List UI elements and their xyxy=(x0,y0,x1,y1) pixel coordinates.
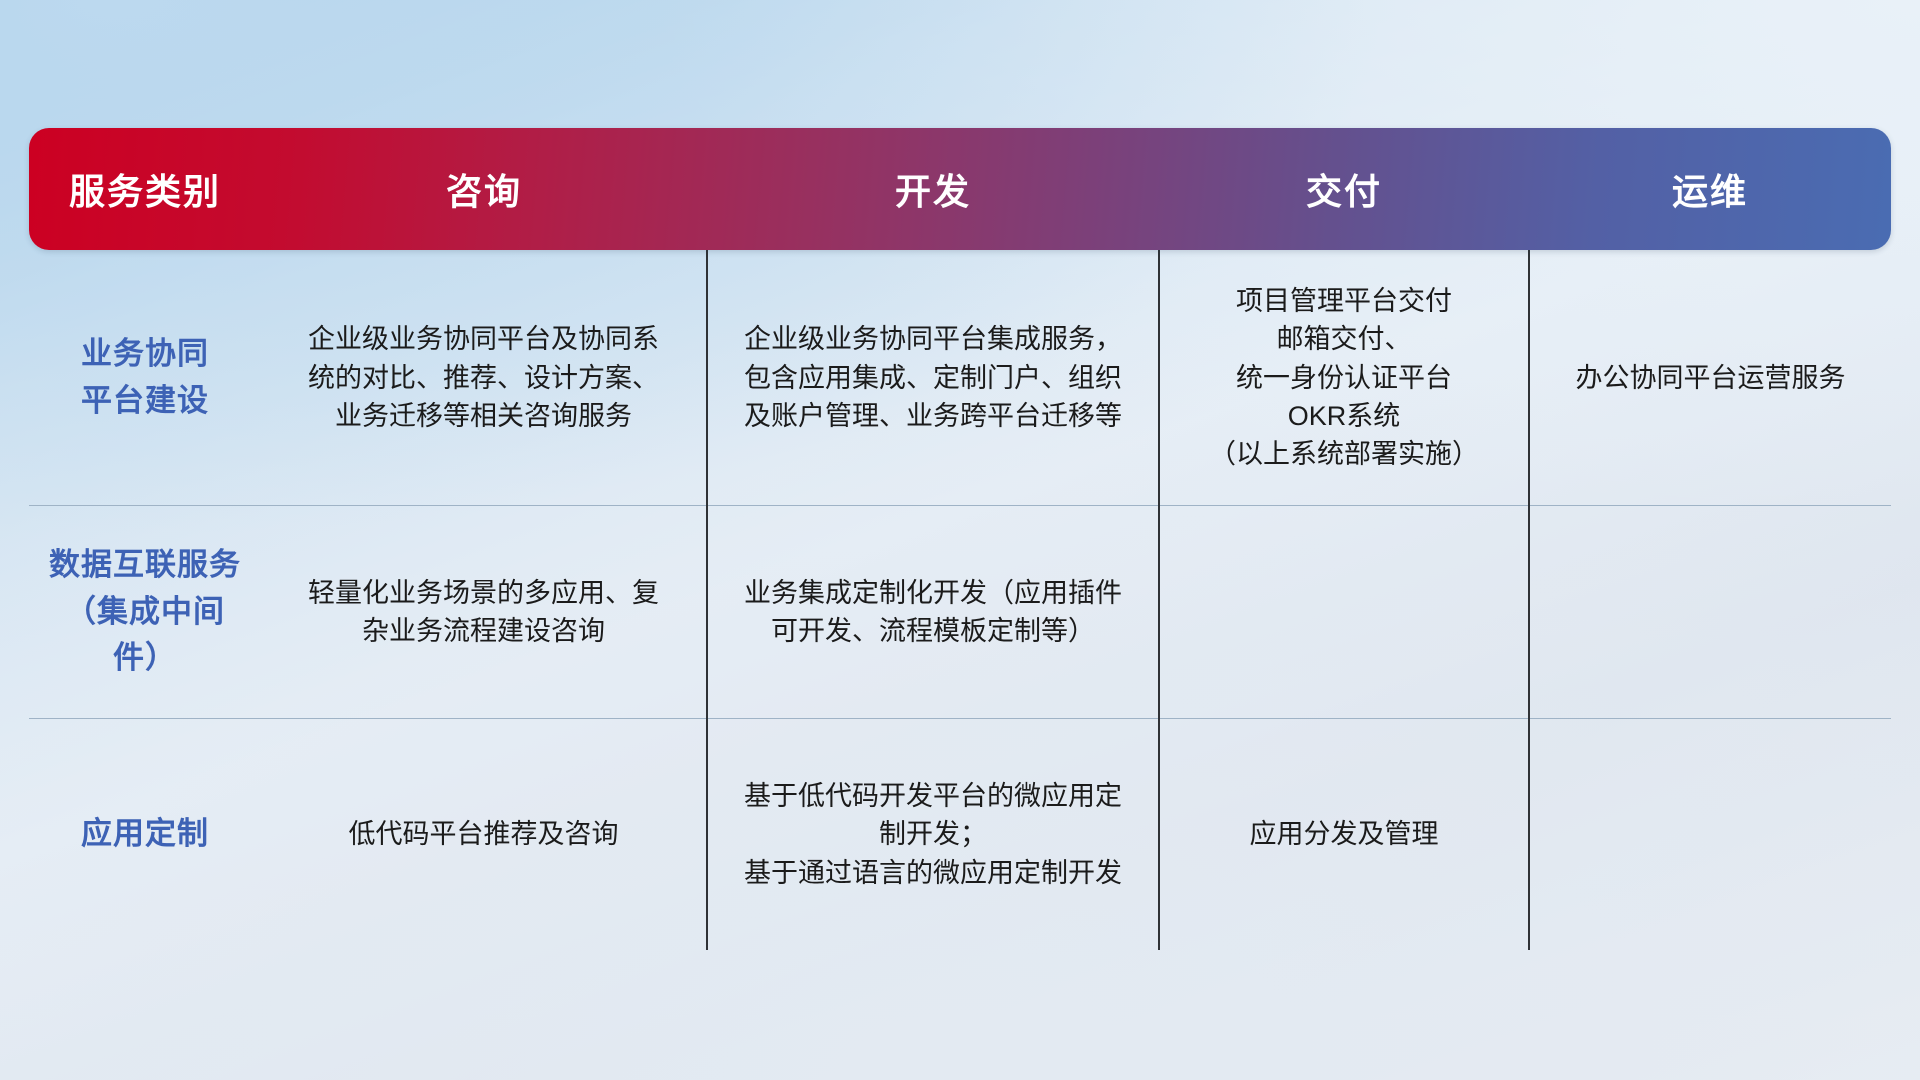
text-line: 基于低代码开发平台的微应用定 xyxy=(724,777,1142,815)
category-line: 数据互联服务 xyxy=(45,542,245,589)
cell-operations-2 xyxy=(1529,506,1891,718)
cell-category-2: 数据互联服务 （集成中间件） xyxy=(29,506,261,718)
text-line: 邮箱交付、 xyxy=(1176,320,1512,358)
header-consulting: 咨询 xyxy=(261,128,707,250)
text-line: 基于通过语言的微应用定制开发 xyxy=(724,854,1142,892)
header-development: 开发 xyxy=(707,128,1159,250)
text-line: OKR系统 xyxy=(1176,397,1512,435)
category-line: 应用定制 xyxy=(45,811,245,858)
category-line: （集成中间件） xyxy=(45,589,245,682)
text-line: 办公协同平台运营服务 xyxy=(1546,359,1875,397)
text-line: 企业级业务协同平台及协同系 xyxy=(277,320,690,358)
text-line: 业务迁移等相关咨询服务 xyxy=(277,397,690,435)
table: 服务类别 咨询 开发 交付 运维 业务协同 平台建设 企业级业务协同平台及协同系 xyxy=(29,128,1891,950)
text-line: 企业级业务协同平台集成服务， xyxy=(724,320,1142,358)
table-head: 服务类别 咨询 开发 交付 运维 xyxy=(29,128,1891,250)
cell-operations-1: 办公协同平台运营服务 xyxy=(1529,250,1891,506)
cell-category-3: 应用定制 xyxy=(29,718,261,950)
service-category-table: 服务类别 咨询 开发 交付 运维 业务协同 平台建设 企业级业务协同平台及协同系 xyxy=(29,128,1891,950)
text-line: 业务集成定制化开发（应用插件 xyxy=(724,574,1142,612)
text-line: 应用分发及管理 xyxy=(1176,815,1512,853)
cell-development-2: 业务集成定制化开发（应用插件 可开发、流程模板定制等） xyxy=(707,506,1159,718)
cell-development-1: 企业级业务协同平台集成服务， 包含应用集成、定制门户、组织 及账户管理、业务跨平… xyxy=(707,250,1159,506)
header-service-category: 服务类别 xyxy=(29,128,261,250)
cell-delivery-3: 应用分发及管理 xyxy=(1159,718,1529,950)
text-line: 低代码平台推荐及咨询 xyxy=(277,815,690,853)
text-line: 可开发、流程模板定制等） xyxy=(724,612,1142,650)
table-row: 数据互联服务 （集成中间件） 轻量化业务场景的多应用、复 杂业务流程建设咨询 业… xyxy=(29,506,1891,718)
category-line: 业务协同 xyxy=(45,331,245,378)
header-row: 服务类别 咨询 开发 交付 运维 xyxy=(29,128,1891,250)
cell-consulting-1: 企业级业务协同平台及协同系 统的对比、推荐、设计方案、 业务迁移等相关咨询服务 xyxy=(261,250,707,506)
table-row: 业务协同 平台建设 企业级业务协同平台及协同系 统的对比、推荐、设计方案、 业务… xyxy=(29,250,1891,506)
cell-operations-3 xyxy=(1529,718,1891,950)
text-line: 轻量化业务场景的多应用、复 xyxy=(277,574,690,612)
cell-consulting-3: 低代码平台推荐及咨询 xyxy=(261,718,707,950)
text-line: 统的对比、推荐、设计方案、 xyxy=(277,359,690,397)
header-delivery: 交付 xyxy=(1159,128,1529,250)
text-line: 及账户管理、业务跨平台迁移等 xyxy=(724,397,1142,435)
text-line: 包含应用集成、定制门户、组织 xyxy=(724,359,1142,397)
text-line: 杂业务流程建设咨询 xyxy=(277,612,690,650)
text-line: （以上系统部署实施） xyxy=(1176,435,1512,473)
cell-development-3: 基于低代码开发平台的微应用定 制开发； 基于通过语言的微应用定制开发 xyxy=(707,718,1159,950)
cell-category-1: 业务协同 平台建设 xyxy=(29,250,261,506)
page-root: 服务类别 咨询 开发 交付 运维 业务协同 平台建设 企业级业务协同平台及协同系 xyxy=(0,0,1920,1080)
text-line: 制开发； xyxy=(724,815,1142,853)
header-operations: 运维 xyxy=(1529,128,1891,250)
cell-delivery-1: 项目管理平台交付 邮箱交付、 统一身份认证平台 OKR系统 （以上系统部署实施） xyxy=(1159,250,1529,506)
table-row: 应用定制 低代码平台推荐及咨询 基于低代码开发平台的微应用定 制开发； 基于通过… xyxy=(29,718,1891,950)
text-line: 项目管理平台交付 xyxy=(1176,282,1512,320)
cell-delivery-2 xyxy=(1159,506,1529,718)
text-line: 统一身份认证平台 xyxy=(1176,359,1512,397)
category-line: 平台建设 xyxy=(45,378,245,425)
cell-consulting-2: 轻量化业务场景的多应用、复 杂业务流程建设咨询 xyxy=(261,506,707,718)
table-body: 业务协同 平台建设 企业级业务协同平台及协同系 统的对比、推荐、设计方案、 业务… xyxy=(29,250,1891,950)
